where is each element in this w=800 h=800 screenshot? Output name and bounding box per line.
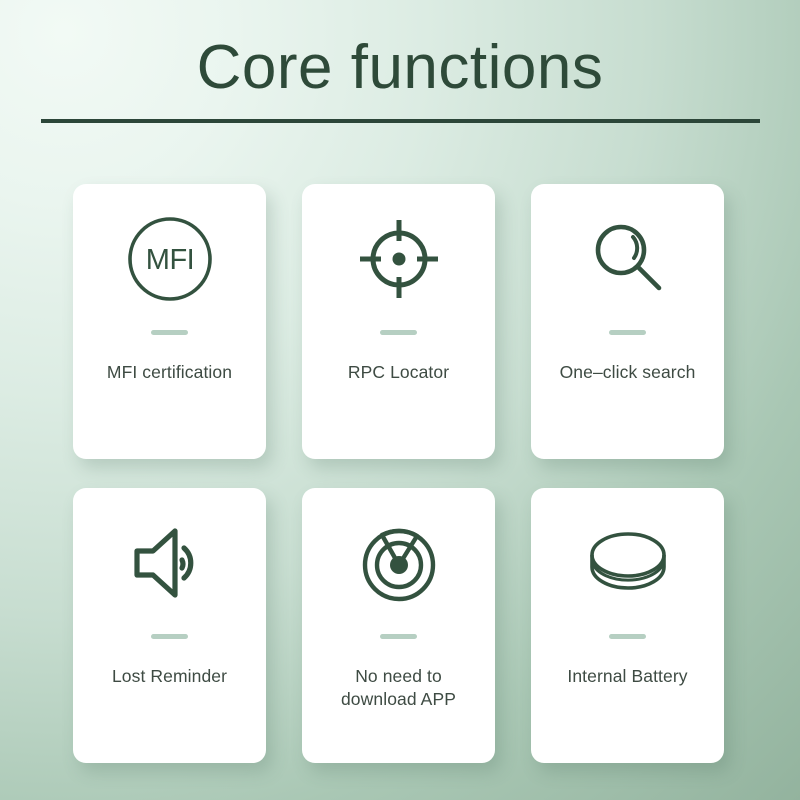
title-divider-rule [41, 119, 760, 123]
feature-card-label: Lost Reminder [73, 665, 266, 688]
feature-card-lost-reminder[interactable]: Lost Reminder [73, 488, 266, 763]
card-divider [380, 634, 417, 639]
speaker-volume-icon [73, 488, 266, 638]
feature-card-label: RPC Locator [302, 361, 495, 384]
feature-card-internal-battery[interactable]: Internal Battery [531, 488, 724, 763]
radar-sonar-icon [302, 488, 495, 638]
card-divider [151, 634, 188, 639]
feature-card-label: No need to download APP [302, 665, 495, 711]
feature-card-mfi-certification[interactable]: MFI MFI certification [73, 184, 266, 459]
feature-card-label: Internal Battery [531, 665, 724, 688]
feature-card-label: MFI certification [73, 361, 266, 384]
mfi-badge-icon: MFI [73, 184, 266, 334]
card-divider [609, 330, 646, 335]
poster-header: Core functions [0, 0, 800, 103]
magnifier-search-icon [531, 184, 724, 334]
crosshair-target-icon [302, 184, 495, 334]
card-divider [151, 330, 188, 335]
feature-card-one-click-search[interactable]: One–click search [531, 184, 724, 459]
card-divider [609, 634, 646, 639]
feature-card-label: One–click search [531, 361, 724, 384]
feature-card-no-app-needed[interactable]: No need to download APP [302, 488, 495, 763]
svg-text:MFI: MFI [145, 244, 193, 276]
feature-card-grid: MFI MFI certification [73, 184, 723, 763]
card-divider [380, 330, 417, 335]
coin-cell-battery-icon [531, 488, 724, 638]
feature-card-rpc-locator[interactable]: RPC Locator [302, 184, 495, 459]
core-functions-poster: Core functions MFI MFI certification [0, 0, 800, 800]
page-title: Core functions [0, 0, 800, 103]
